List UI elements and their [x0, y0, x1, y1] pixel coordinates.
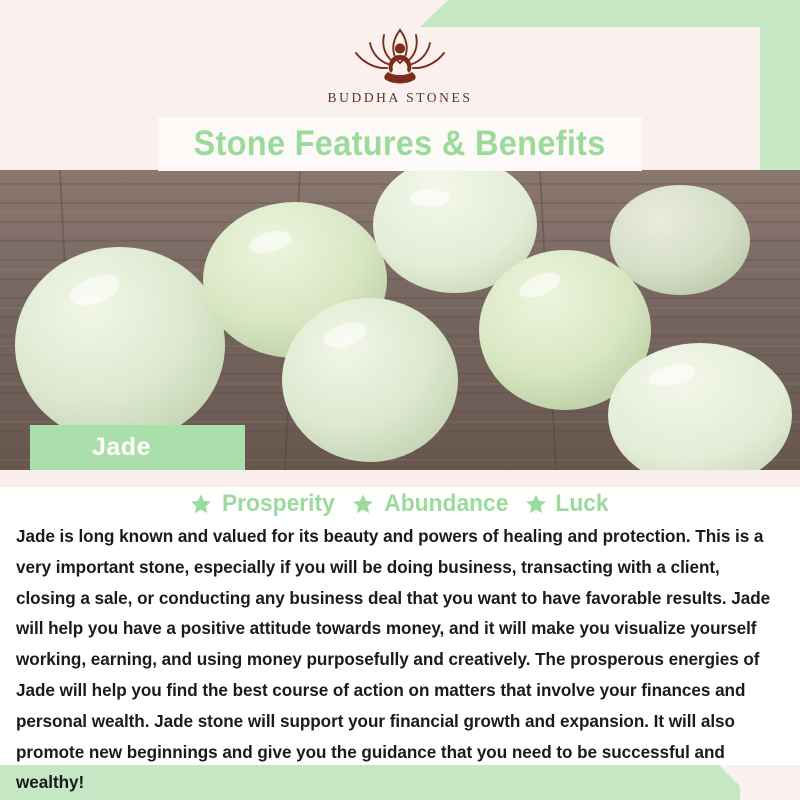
- description-panel: Prosperity Abundance Luck Jade is long k…: [0, 487, 800, 765]
- page-title: Stone Features & Benefits: [194, 124, 606, 164]
- star-icon: [525, 493, 547, 515]
- infographic-card: BUDDHA STONES Stone Features & Benefits: [0, 0, 800, 800]
- keyword-item: Prosperity: [190, 490, 338, 518]
- keyword-item: Abundance: [352, 490, 512, 518]
- star-icon: [352, 493, 374, 515]
- decorative-shape-top-right: [420, 0, 800, 27]
- keyword-item: Luck: [525, 490, 610, 518]
- keyword-label: Abundance: [384, 490, 508, 518]
- divider-strip: [0, 470, 800, 487]
- keyword-label: Prosperity: [222, 490, 335, 518]
- stone-description: Jade is long known and valued for its be…: [16, 521, 772, 798]
- brand-logo: BUDDHA STONES: [0, 24, 800, 116]
- lotus-meditation-figure-icon: [334, 24, 466, 86]
- keyword-list: Prosperity Abundance Luck: [0, 487, 800, 519]
- stone-name-label: Jade: [92, 433, 151, 462]
- brand-name: BUDDHA STONES: [328, 90, 473, 106]
- star-icon: [190, 493, 212, 515]
- keyword-label: Luck: [556, 490, 609, 518]
- stone-name-bar: Jade: [30, 425, 245, 470]
- title-banner: Stone Features & Benefits: [158, 117, 642, 171]
